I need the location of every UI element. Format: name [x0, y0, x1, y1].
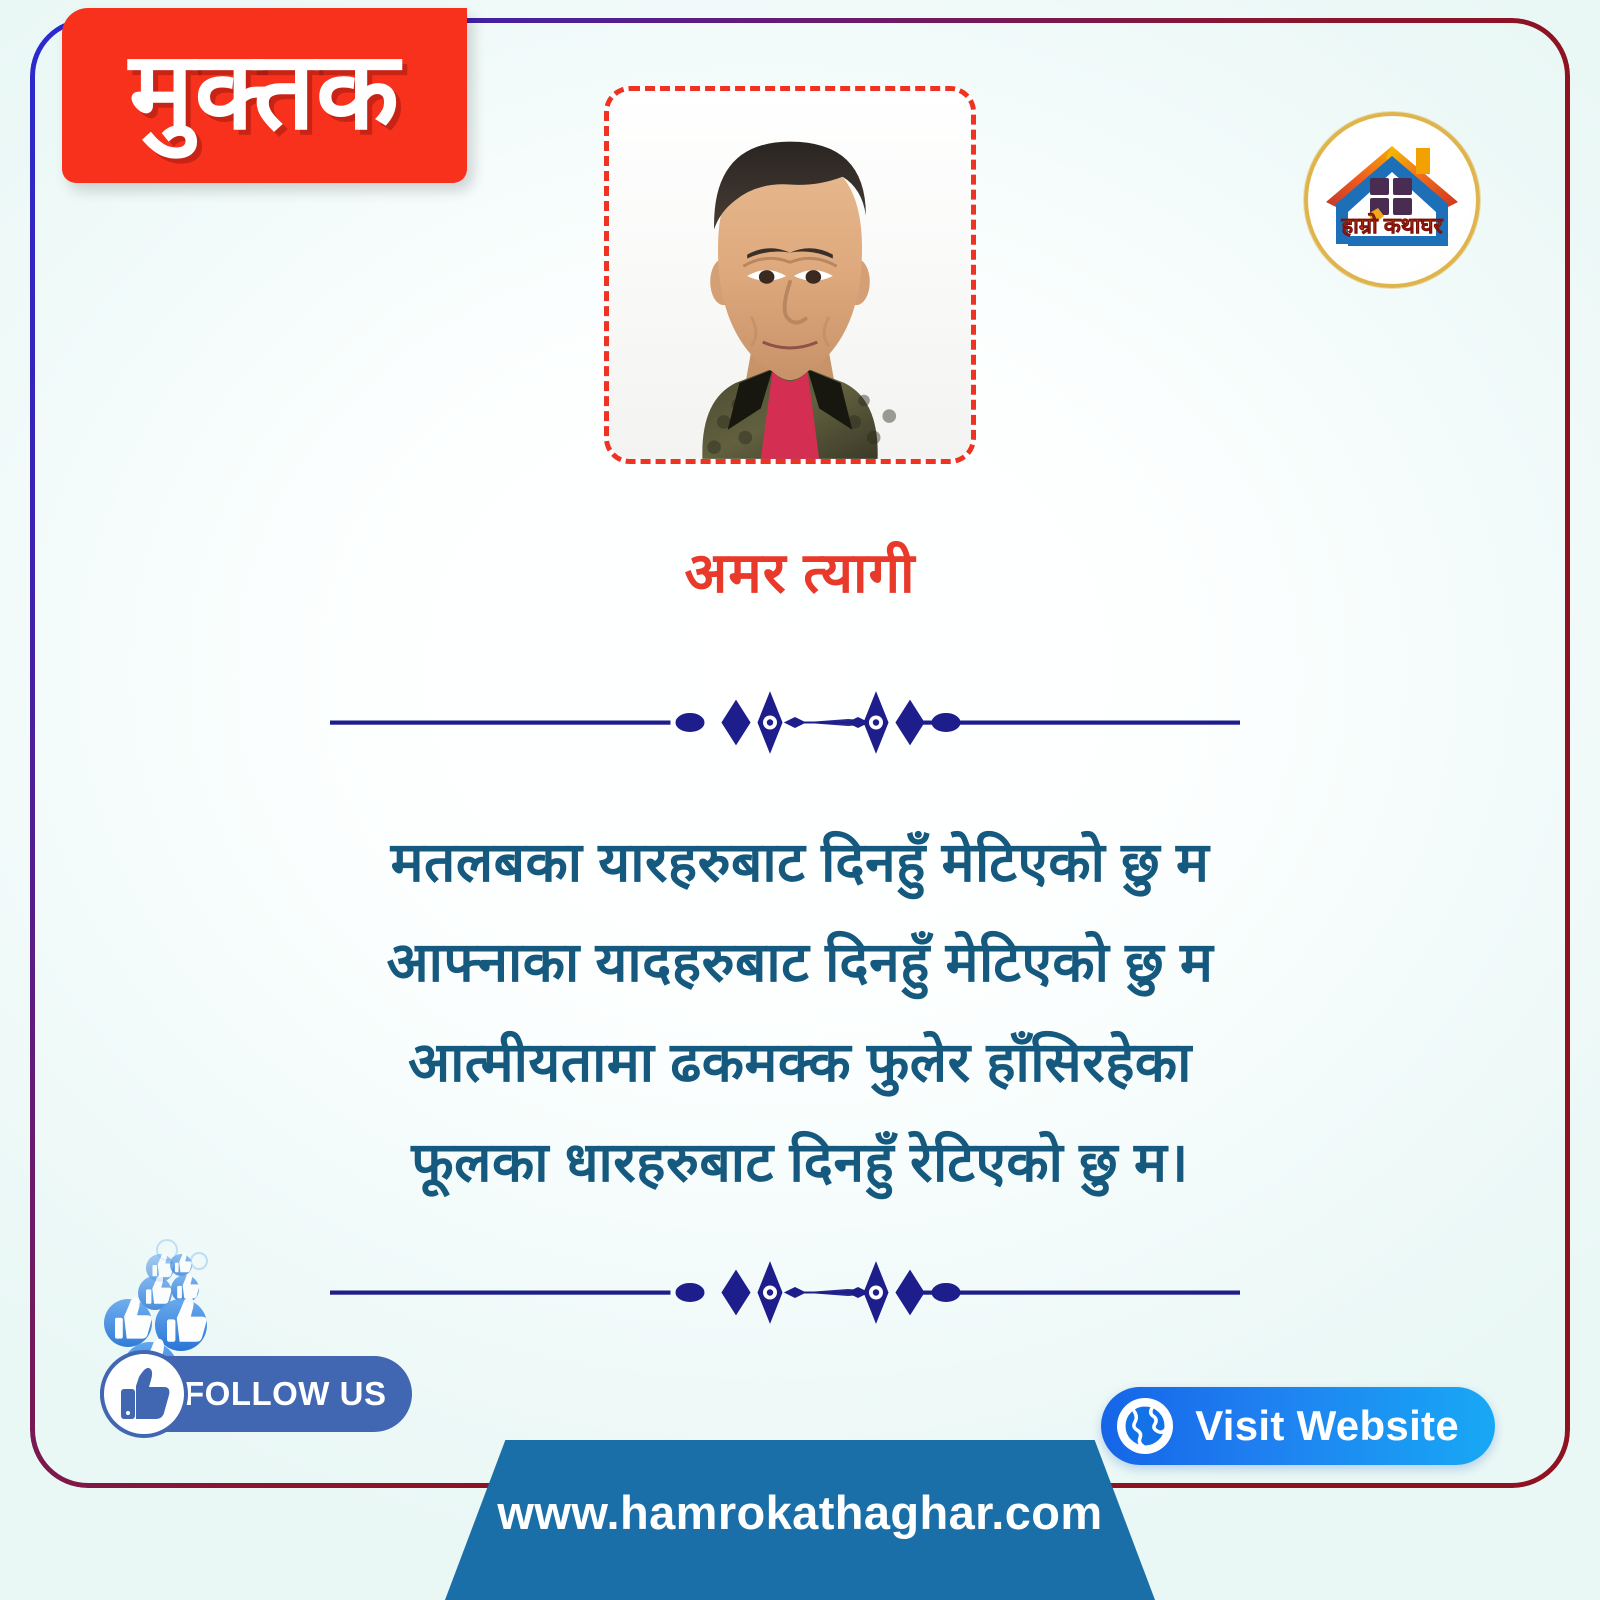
ornament-divider-icon: [330, 1258, 1240, 1328]
brand-logo[interactable]: हाम्रो कथाघर: [1304, 112, 1480, 288]
poster-canvas: मुक्तक: [0, 0, 1600, 1600]
follow-us-label: FOLLOW US: [184, 1375, 386, 1413]
ornament-divider-icon: [330, 688, 1240, 758]
poem-line-4: फूलका धारहरुबाट दिनहुँ रेटिएको छु म।: [180, 1112, 1420, 1212]
divider-top: [330, 688, 1240, 758]
author-photo-frame: [604, 86, 976, 464]
poem-line-2: आफ्नाका यादहरुबाट दिनहुँ मेटिएको छु म: [180, 912, 1420, 1012]
divider-bottom: [330, 1258, 1240, 1328]
title-badge: मुक्तक: [62, 8, 467, 183]
badge-title-text: मुक्तक: [129, 37, 400, 155]
poem-line-1: मतलबका यारहरुबाट दिनहुँ मेटिएको छु म: [180, 812, 1420, 912]
brand-logo-text: हाम्रो कथाघर: [1341, 212, 1444, 238]
follow-us-thumb-badge[interactable]: [100, 1350, 188, 1438]
author-portrait: [609, 91, 971, 459]
house-logo-icon: हाम्रो कथाघर: [1308, 116, 1476, 284]
website-url[interactable]: www.hamrokathaghar.com: [497, 1485, 1102, 1556]
author-name: अमर त्यागी: [0, 533, 1600, 609]
poem-line-3: आत्मीयतामा ढकमक्क फुलेर हाँसिरहेका: [180, 1012, 1420, 1112]
poem-block: मतलबका यारहरुबाट दिनहुँ मेटिएको छु म आफ्…: [180, 812, 1420, 1212]
visit-website-label: Visit Website: [1195, 1402, 1459, 1450]
footer-banner: www.hamrokathaghar.com: [445, 1440, 1155, 1600]
globe-icon: [1117, 1398, 1173, 1454]
thumbs-up-icon: [115, 1365, 173, 1423]
visit-website-button[interactable]: Visit Website: [1101, 1387, 1495, 1465]
